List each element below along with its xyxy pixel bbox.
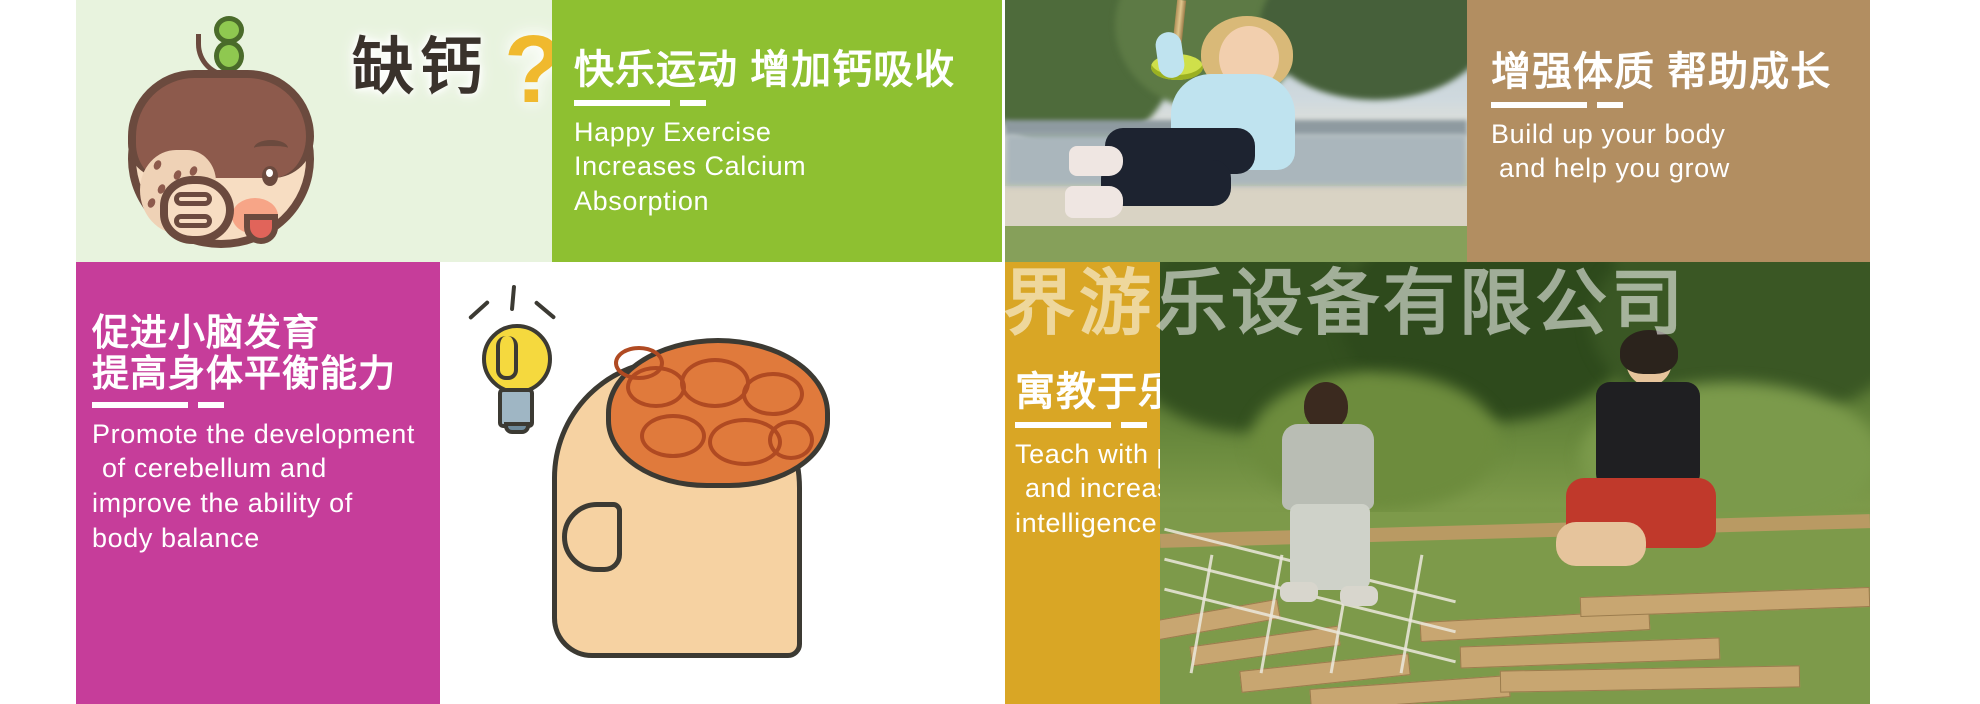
build-body-en-line1: Build up your body [1491,117,1831,152]
build-body-headline-cn: 增强体质 帮助成长 [1491,50,1831,95]
panel-swing-photo [1005,0,1467,262]
sprout-leaf-bottom-icon [214,40,244,72]
headline-underline [92,402,188,408]
build-body-en-line2: and help you grow [1491,151,1831,186]
cerebellum-headline-cn-line2: 提高身体平衡能力 [92,353,415,394]
happy-exercise-en-line2: Increases Calcium [574,149,955,184]
cerebellum-en-line1: Promote the development [92,417,415,452]
baby-eyebrow [254,140,288,156]
girl-shoe [1065,186,1123,218]
panel-calcium-illustration: 缺钙 ? [76,0,552,262]
happy-exercise-headline-cn: 快乐运动 增加钙吸收 [574,48,955,93]
baby-mouth [244,214,278,244]
calcium-headline-cn: 缺钙 [352,36,488,98]
panel-cerebellum: 促进小脑发育 提高身体平衡能力 Promote the development … [76,262,440,704]
cerebellum-en-line4: body balance [92,521,415,556]
boy-figure [1268,382,1388,612]
promo-banner: 缺钙 ? 快乐运动 增加钙吸收 Happy Exercise Increases… [0,0,1980,704]
baby-eye [262,166,278,186]
baby-illustration [96,8,346,262]
woman-figure [1556,336,1726,616]
headline-underline [1491,102,1587,108]
panel-build-body: 增强体质 帮助成长 Build up your body and help yo… [1467,0,1870,262]
cerebellum-text: 促进小脑发育 提高身体平衡能力 Promote the development … [92,312,415,555]
panel-brain-illustration [440,262,1005,704]
girl-shoe [1069,146,1123,176]
happy-exercise-en-line1: Happy Exercise [574,115,955,150]
photo-grass [1005,226,1467,262]
headline-underline [1015,422,1111,428]
build-body-text: 增强体质 帮助成长 Build up your body and help yo… [1491,50,1831,186]
panel-rope-bridge-photo [1160,262,1870,704]
headline-underline [574,100,670,106]
happy-exercise-text: 快乐运动 增加钙吸收 Happy Exercise Increases Calc… [574,48,955,218]
cerebellum-headline-cn-line1: 促进小脑发育 [92,312,415,353]
cerebellum-en-line3: improve the ability of [92,486,415,521]
happy-exercise-en-line3: Absorption [574,184,955,219]
head-brain-illustration [552,322,882,662]
cerebellum-en-line2: of cerebellum and [92,451,415,486]
panel-happy-exercise: 快乐运动 增加钙吸收 Happy Exercise Increases Calc… [552,0,1002,262]
baby-hand [160,176,234,244]
question-mark-icon: ? [504,22,552,118]
